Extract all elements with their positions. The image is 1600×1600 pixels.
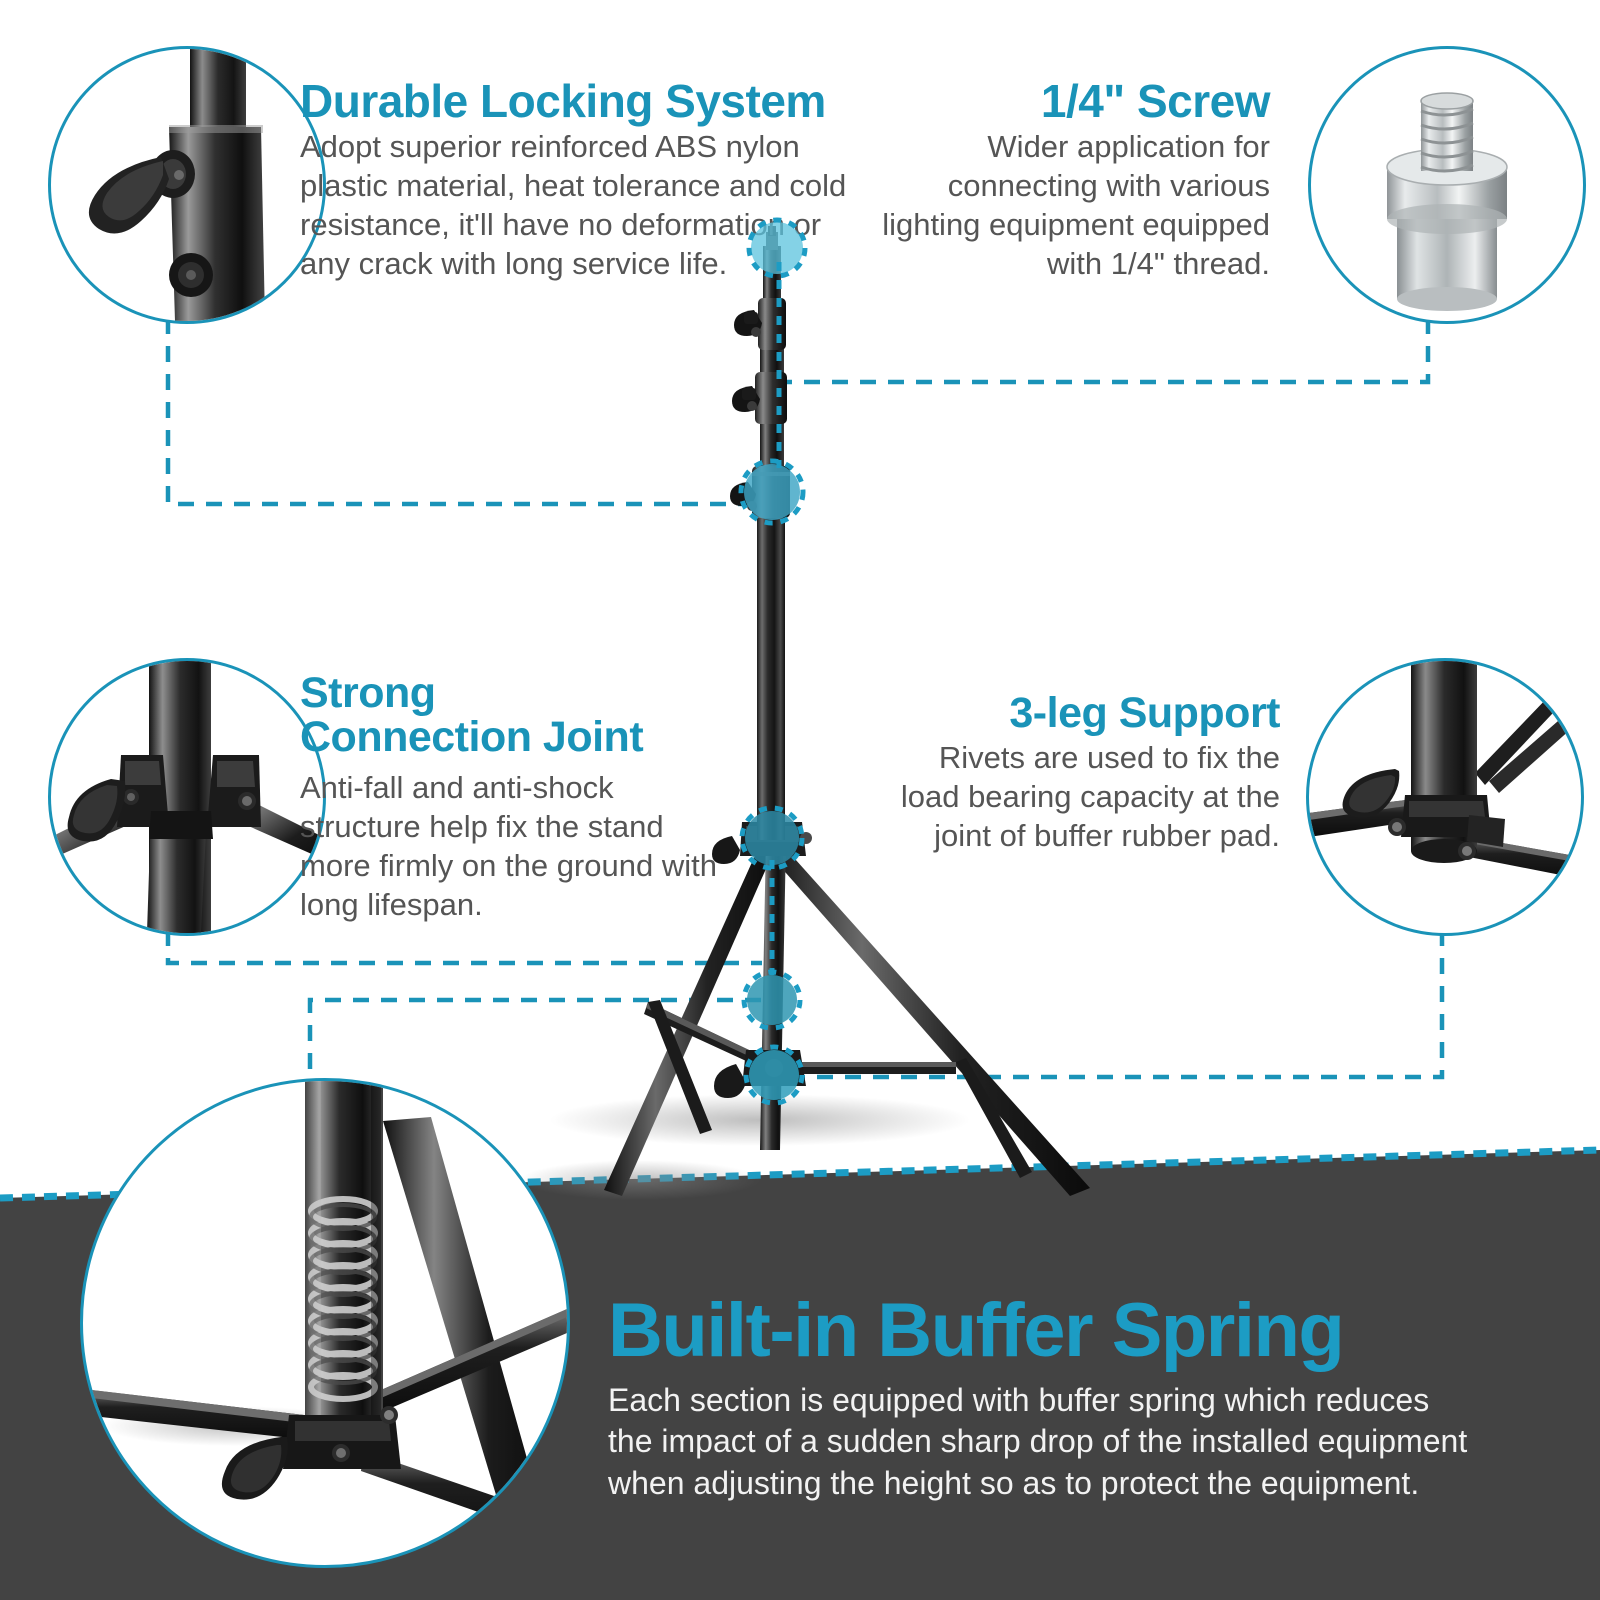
- feature-title: 3-leg Support: [880, 692, 1280, 736]
- feature-title: Built-in Buffer Spring: [608, 1292, 1478, 1370]
- feature-title: 1/4" Screw: [880, 78, 1270, 125]
- hotspot-leg-joint: [745, 811, 799, 865]
- feature-title-line-2: Connection Joint: [300, 713, 643, 761]
- feature-description: Anti-fall and anti-shock structure help …: [300, 768, 720, 924]
- callout-circle-locking-system: [48, 46, 326, 324]
- feature-description: Each section is equipped with buffer spr…: [608, 1380, 1478, 1505]
- screw-icon: [1311, 49, 1583, 321]
- joint-icon: [51, 661, 323, 933]
- connector-screw: [784, 318, 1428, 382]
- callout-circle-screw: [1308, 46, 1586, 324]
- callout-circle-three-leg: [1306, 658, 1584, 936]
- connector-three-leg: [786, 930, 1442, 1077]
- feature-title-line-1: Strong: [300, 669, 436, 717]
- feature-block-three-leg-support: 3-leg Support Rivets are used to fix the…: [880, 692, 1280, 855]
- feature-title: Durable Locking System: [300, 78, 860, 125]
- buffer-spring-icon: [83, 1081, 567, 1565]
- locking-lever-icon: [51, 49, 323, 321]
- feature-title: Strong Connection Joint: [300, 672, 720, 760]
- connector-locking-system: [168, 318, 752, 504]
- connector-joint: [168, 930, 762, 963]
- feature-block-durable-locking-system: Durable Locking System Adopt superior re…: [300, 78, 860, 283]
- feature-block-quarter-inch-screw: 1/4" Screw Wider application for connect…: [880, 78, 1270, 283]
- infographic-canvas: Durable Locking System Adopt superior re…: [0, 0, 1600, 1600]
- hotspot-mid-lock: [744, 464, 800, 520]
- feature-block-built-in-buffer-spring: Built-in Buffer Spring Each section is e…: [608, 1292, 1478, 1504]
- feature-description: Rivets are used to fix the load bearing …: [880, 738, 1280, 855]
- feature-description: Adopt superior reinforced ABS nylon plas…: [300, 127, 860, 283]
- hotspot-base-joint: [749, 1050, 799, 1100]
- callout-circle-connection-joint: [48, 658, 326, 936]
- feature-block-strong-connection-joint: Strong Connection Joint Anti-fall and an…: [300, 672, 720, 924]
- callout-circle-buffer-spring: [80, 1078, 570, 1568]
- tripod-base-icon: [1309, 661, 1581, 933]
- feature-description: Wider application for connecting with va…: [880, 127, 1270, 283]
- hotspot-spring: [747, 975, 797, 1025]
